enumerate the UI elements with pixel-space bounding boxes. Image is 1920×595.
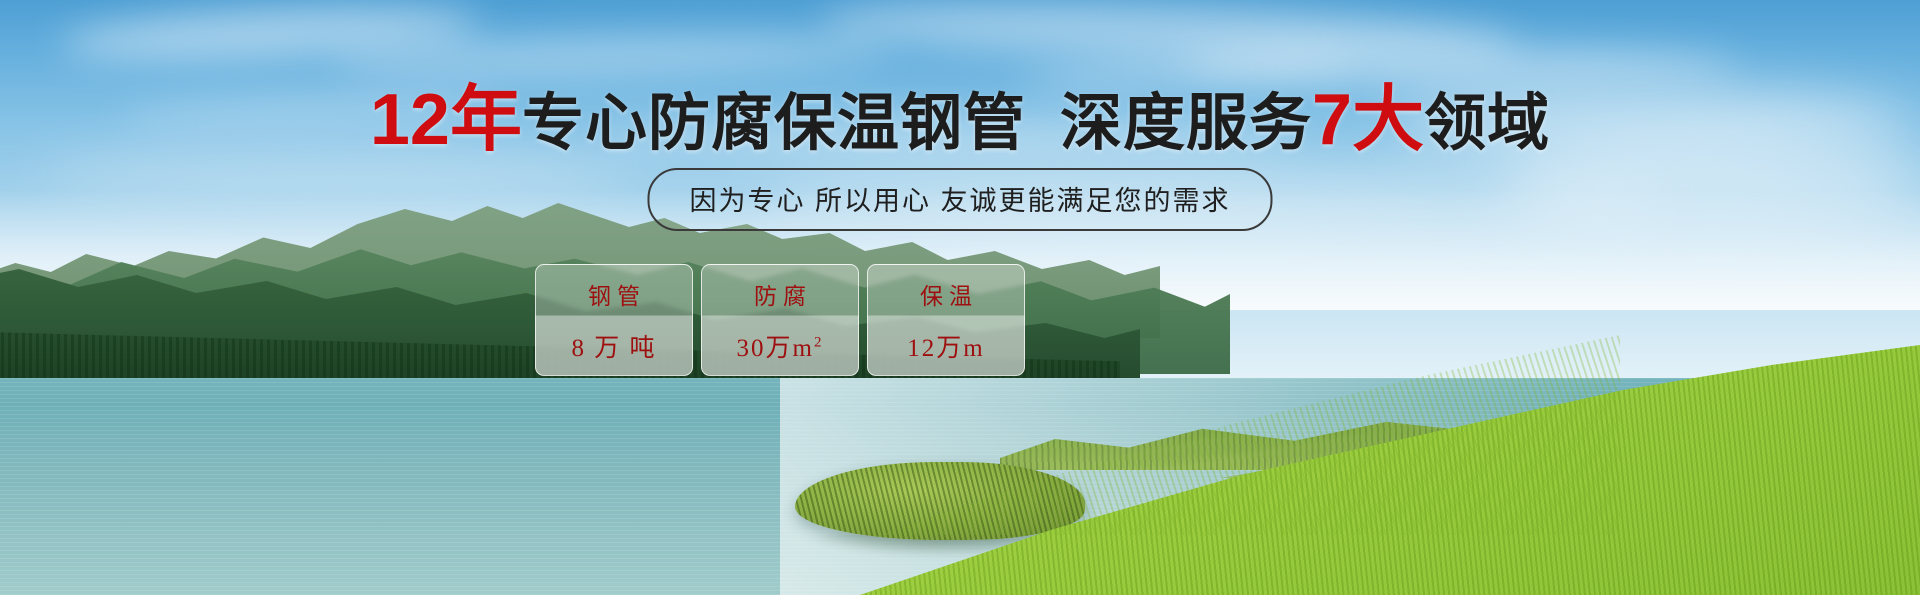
stat-card-value-superscript: 2 <box>814 334 824 350</box>
stat-card-group: 钢管 8 万 吨 防腐 30万m2 保温 12万m <box>535 264 1025 376</box>
promo-banner: 12年专心防腐保温钢管深度服务7大领域 因为专心 所以用心 友诚更能满足您的需求… <box>0 0 1920 595</box>
stat-card-value: 12万m <box>907 328 984 364</box>
headline-years-unit: 年 <box>450 80 522 160</box>
headline-tail-text: 领域 <box>1424 89 1550 158</box>
stat-card-label: 防腐 <box>748 277 812 311</box>
stat-card-insulation[interactable]: 保温 12万m <box>867 264 1025 376</box>
stat-card-steel-pipe[interactable]: 钢管 8 万 吨 <box>535 264 693 376</box>
stat-card-value-text: 30万m <box>737 335 814 362</box>
headline-main-text: 专心防腐保温钢管 <box>522 89 1026 158</box>
headline-service-text: 深度服务 <box>1060 89 1312 158</box>
stat-card-value: 30万m2 <box>737 328 824 364</box>
stat-card-anticorrosion[interactable]: 防腐 30万m2 <box>701 264 859 376</box>
stat-card-label: 保温 <box>914 277 978 311</box>
stat-card-label: 钢管 <box>582 277 646 311</box>
banner-headline: 12年专心防腐保温钢管深度服务7大领域 <box>0 84 1920 156</box>
headline-fields-number: 7 <box>1312 80 1352 160</box>
banner-subtitle-pill: 因为专心 所以用心 友诚更能满足您的需求 <box>647 168 1272 231</box>
headline-years-number: 12 <box>370 80 450 160</box>
headline-fields-unit: 大 <box>1352 80 1424 160</box>
stat-card-value: 8 万 吨 <box>571 328 656 364</box>
